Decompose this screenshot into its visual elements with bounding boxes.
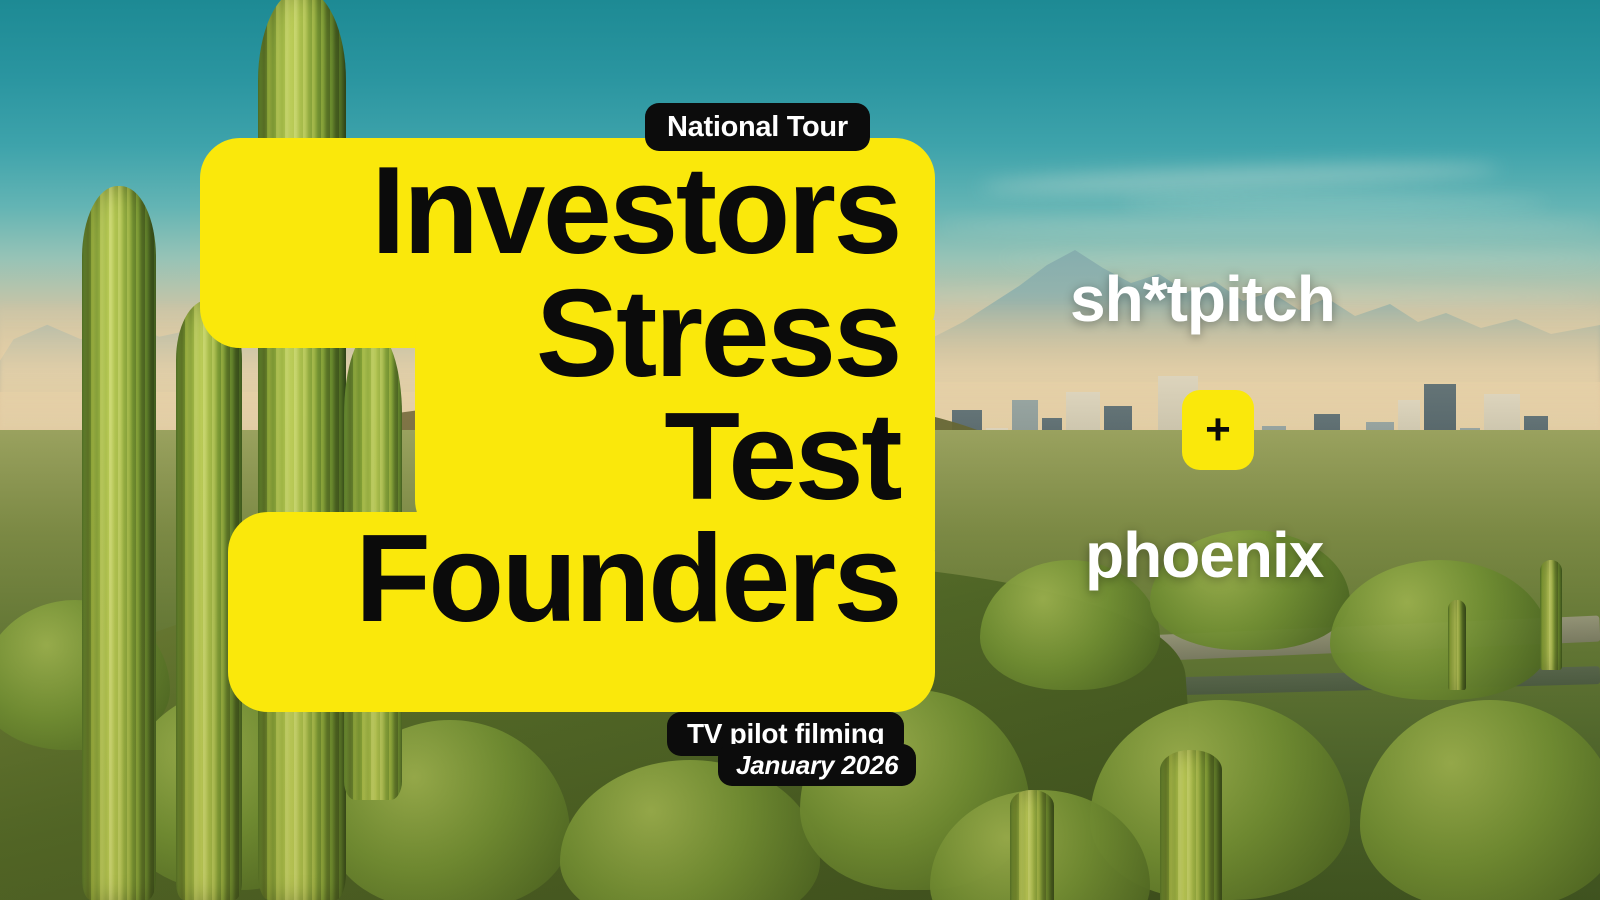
brand-city-name: phoenix [1085,518,1323,592]
eyebrow-badge: National Tour [645,103,870,151]
footer-badge-secondary: January 2026 [718,744,916,786]
brand-name-primary: sh*tpitch [1070,262,1335,336]
plus-icon: + [1182,390,1254,470]
poster-canvas: Investors Stress Test Founders National … [0,0,1600,900]
page-title: Investors Stress Test Founders [200,150,900,641]
